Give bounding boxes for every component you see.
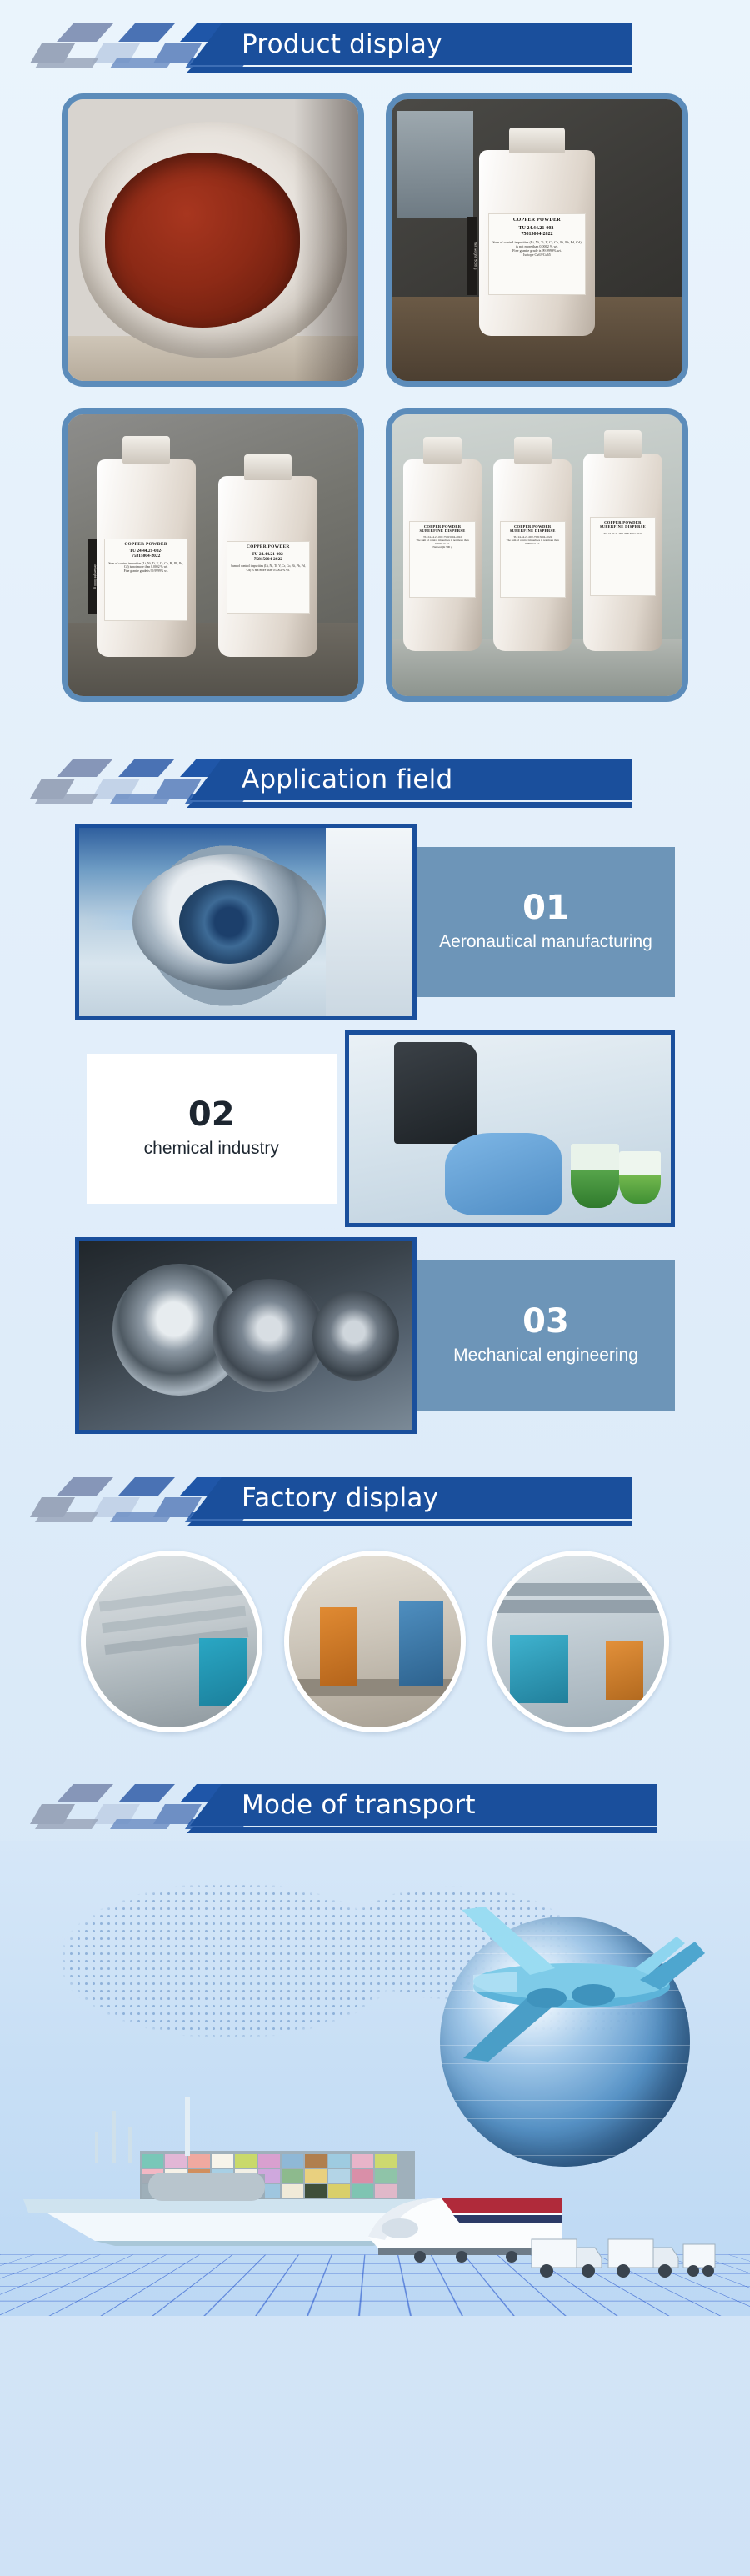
section-title-text: Product display: [190, 29, 442, 59]
product-photo-superfine-bottles: COPPER POWDER SUPERFINE DISPERSE TU 24.4…: [392, 414, 682, 696]
bottle-label-line5: Net weight 500 g: [412, 545, 472, 549]
application-text-card: 03 Mechanical engineering: [417, 1260, 675, 1411]
section-header-application-field: Application field: [0, 750, 750, 810]
bottle-side-tag: Net weight: 5000 g: [467, 217, 478, 295]
section-title-underbar: [187, 802, 632, 808]
bottle-label-line3: TU 24.44.21-002-75815004-2022: [592, 532, 653, 535]
section-title-underbar: [187, 1521, 632, 1526]
bottle-label-line2: SUPERFINE DISPERSE: [592, 524, 653, 529]
application-label: chemical industry: [132, 1137, 291, 1160]
factory-photo-circle[interactable]: [81, 1551, 262, 1732]
bottle-label-line2: SUPERFINE DISPERSE: [412, 529, 472, 533]
application-text-card: 02 chemical industry: [87, 1054, 337, 1204]
section-title-text: Application field: [190, 764, 452, 794]
bottle-label-line3: 75815004-2022: [229, 557, 307, 562]
bottle-label-line1: COPPER POWDER: [229, 544, 307, 549]
application-photo-gears: [75, 1237, 417, 1434]
section-title-underbar: [187, 67, 632, 73]
transport-illustration: [0, 1841, 750, 2316]
section-title-banner: Factory display: [190, 1477, 632, 1519]
delivery-trucks-icon: [528, 2221, 720, 2288]
product-card[interactable]: COPPER POWDER TU 24.44.21-002- 75815004-…: [386, 93, 688, 387]
application-item[interactable]: 02 chemical industry: [75, 1030, 675, 1227]
application-list: 01 Aeronautical manufacturing 02 chemica…: [0, 810, 750, 1434]
application-number: 02: [188, 1097, 235, 1132]
product-card[interactable]: [62, 93, 364, 387]
factory-image-row: [0, 1529, 750, 1732]
product-photo-two-bottles: COPPER POWDER TU 24.44.21-002- 75815004-…: [67, 414, 358, 696]
application-label: Mechanical engineering: [442, 1344, 650, 1366]
bottle-label-line4: Sum of control impurities (Li, Ni, Ti, V…: [229, 564, 307, 572]
product-card[interactable]: COPPER POWDER SUPERFINE DISPERSE TU 24.4…: [386, 408, 688, 702]
bottle-label-line2: TU 24.44.21-002-: [492, 226, 582, 232]
application-photo-laboratory: [345, 1030, 675, 1227]
section-title-text: Mode of transport: [190, 1790, 476, 1820]
section-title-text: Factory display: [190, 1483, 438, 1513]
application-item[interactable]: 01 Aeronautical manufacturing: [75, 824, 675, 1020]
bottle-label-line4: Sum of control impurities (Li, Ni, Ti, V…: [107, 562, 185, 569]
application-label: Aeronautical manufacturing: [427, 930, 664, 953]
product-image-grid: COPPER POWDER TU 24.44.21-002- 75815004-…: [0, 75, 750, 702]
cargo-plane-icon: [430, 1888, 705, 2080]
application-item[interactable]: 03 Mechanical engineering: [75, 1237, 675, 1434]
bottle-label-line5: Fine granite grade is 99.9999% wt.: [107, 569, 185, 573]
application-number: 01: [522, 890, 569, 925]
section-header-factory-display: Factory display: [0, 1469, 750, 1529]
bottle-label-line4: The sum of control impurities is not mor…: [412, 539, 472, 545]
application-photo-jet-engine: [75, 824, 417, 1020]
factory-photo-circle[interactable]: [284, 1551, 466, 1732]
product-photo-single-bottle: COPPER POWDER TU 24.44.21-002- 75815004-…: [392, 99, 682, 381]
section-title-underbar: [187, 1827, 657, 1833]
product-photo-copper-drum: [67, 99, 358, 381]
bottle-label-line6: Isotope Cu63/Cu65: [492, 253, 582, 258]
bottle-label-line3: 75815004-2022: [492, 232, 582, 238]
section-header-product-display: Product display: [0, 15, 750, 75]
bottle-label-line2: SUPERFINE DISPERSE: [502, 529, 563, 533]
bottle-label-line4: The sum of control impurities is not mor…: [502, 539, 563, 545]
application-text-card: 01 Aeronautical manufacturing: [417, 847, 675, 997]
bottle-label-line1: COPPER POWDER: [107, 542, 185, 547]
factory-photo-circle[interactable]: [487, 1551, 669, 1732]
product-card[interactable]: COPPER POWDER TU 24.44.21-002- 75815004-…: [62, 408, 364, 702]
bottle-side-tag: Net weight: 5000 g: [88, 539, 96, 614]
section-title-banner: Application field: [190, 759, 632, 800]
section-title-banner: Mode of transport: [190, 1784, 657, 1826]
section-title-banner: Product display: [190, 23, 632, 65]
bottle-label-line1: COPPER POWDER: [492, 218, 582, 223]
section-header-mode-of-transport: Mode of transport: [0, 1776, 750, 1836]
application-number: 03: [522, 1304, 569, 1339]
bottle-label-line3: 75815004-2022: [107, 554, 185, 559]
